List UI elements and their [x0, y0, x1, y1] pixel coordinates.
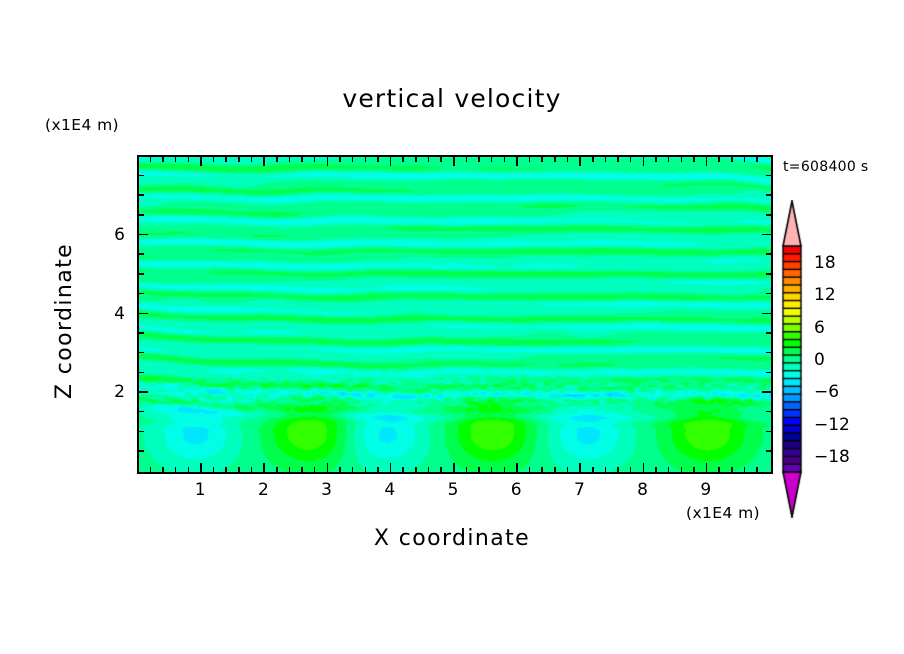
axis-tick — [617, 157, 619, 162]
axis-tick — [200, 463, 202, 472]
axis-tick — [762, 234, 771, 236]
axis-tick — [766, 431, 771, 433]
axis-tick — [175, 157, 177, 162]
axis-tick — [289, 467, 291, 472]
contour-field — [139, 157, 771, 472]
axis-tick — [263, 157, 265, 166]
axis-tick — [213, 467, 215, 472]
axis-tick — [453, 463, 455, 472]
axis-tick — [314, 157, 316, 162]
axis-tick — [263, 463, 265, 472]
axis-tick — [238, 157, 240, 162]
x-tick-label: 6 — [496, 480, 536, 500]
axis-tick — [390, 157, 392, 166]
axis-tick — [668, 157, 670, 162]
axis-tick — [440, 467, 442, 472]
axis-tick — [453, 157, 455, 166]
axis-tick — [579, 463, 581, 472]
colorbar-gradient — [781, 200, 803, 518]
x-tick-label: 4 — [370, 480, 410, 500]
axis-tick — [592, 467, 594, 472]
timestamp-annotation: t=608400 s — [783, 160, 868, 174]
y-axis-unit-label: (x1E4 m) — [45, 118, 119, 134]
x-tick-label: 5 — [433, 480, 473, 500]
colorbar-tick-label: 0 — [814, 350, 825, 370]
axis-tick — [402, 467, 404, 472]
axis-tick — [415, 467, 417, 472]
axis-tick — [440, 157, 442, 162]
axis-tick — [541, 467, 543, 472]
figure-canvas: vertical velocity (x1E4 m) (x1E4 m) X co… — [0, 0, 904, 654]
axis-tick — [162, 467, 164, 472]
axis-tick — [200, 157, 202, 166]
axis-tick — [139, 332, 144, 334]
axis-tick — [301, 157, 303, 162]
axis-tick — [762, 313, 771, 315]
axis-tick — [643, 463, 645, 472]
axis-tick — [744, 467, 746, 472]
x-tick-label: 8 — [623, 480, 663, 500]
axis-tick — [605, 467, 607, 472]
axis-tick — [516, 463, 518, 472]
axis-tick — [766, 450, 771, 452]
axis-tick — [225, 467, 227, 472]
x-tick-label: 1 — [180, 480, 220, 500]
axis-tick — [352, 467, 354, 472]
axis-tick — [693, 157, 695, 162]
axis-tick — [766, 293, 771, 295]
axis-tick — [139, 175, 144, 177]
axis-tick — [276, 467, 278, 472]
axis-tick — [766, 253, 771, 255]
axis-tick — [541, 157, 543, 162]
axis-tick — [352, 157, 354, 162]
axis-tick — [630, 157, 632, 162]
axis-tick — [139, 411, 144, 413]
axis-tick — [681, 467, 683, 472]
axis-tick — [766, 273, 771, 275]
axis-tick — [744, 157, 746, 162]
axis-tick — [567, 467, 569, 472]
x-axis-title: X coordinate — [0, 528, 904, 550]
axis-tick — [466, 157, 468, 162]
axis-tick — [301, 467, 303, 472]
axis-tick — [139, 214, 144, 216]
axis-tick — [617, 467, 619, 472]
y-tick-label: 4 — [95, 304, 125, 324]
axis-tick — [592, 157, 594, 162]
axis-tick — [162, 157, 164, 162]
axis-tick — [766, 352, 771, 354]
axis-tick — [365, 467, 367, 472]
colorbar-tick-label: −6 — [814, 382, 839, 402]
axis-tick — [605, 157, 607, 162]
axis-tick — [150, 157, 152, 162]
axis-tick — [681, 157, 683, 162]
axis-tick — [766, 194, 771, 196]
axis-tick — [139, 293, 144, 295]
x-tick-label: 7 — [559, 480, 599, 500]
axis-tick — [504, 467, 506, 472]
axis-tick — [756, 157, 758, 162]
colorbar-tick-label: −18 — [814, 447, 850, 467]
plot-title: vertical velocity — [0, 86, 904, 111]
axis-tick — [731, 157, 733, 162]
axis-tick — [554, 157, 556, 162]
axis-tick — [516, 157, 518, 166]
axis-tick — [718, 157, 720, 162]
axis-tick — [643, 157, 645, 166]
axis-tick — [377, 467, 379, 472]
axis-tick — [251, 157, 253, 162]
axis-tick — [491, 157, 493, 162]
axis-tick — [139, 313, 148, 315]
axis-tick — [756, 467, 758, 472]
colorbar-tick-label: −12 — [814, 415, 850, 435]
axis-tick — [139, 431, 144, 433]
y-tick-label: 6 — [95, 225, 125, 245]
axis-tick — [238, 467, 240, 472]
axis-tick — [327, 157, 329, 166]
x-axis-unit-label: (x1E4 m) — [686, 506, 760, 522]
axis-tick — [314, 467, 316, 472]
axis-tick — [706, 157, 708, 166]
axis-tick — [139, 372, 144, 374]
axis-tick — [766, 372, 771, 374]
axis-tick — [139, 194, 144, 196]
axis-tick — [402, 157, 404, 162]
axis-tick — [655, 157, 657, 162]
axis-tick — [139, 352, 144, 354]
axis-tick — [139, 391, 148, 393]
axis-tick — [766, 214, 771, 216]
axis-tick — [188, 467, 190, 472]
axis-tick — [630, 467, 632, 472]
colorbar — [781, 200, 803, 518]
axis-tick — [365, 157, 367, 162]
axis-tick — [693, 467, 695, 472]
axis-tick — [504, 157, 506, 162]
axis-tick — [567, 157, 569, 162]
y-axis-title: Z coordinate — [54, 221, 76, 421]
axis-tick — [139, 273, 144, 275]
axis-tick — [762, 391, 771, 393]
plot-area — [137, 155, 773, 474]
x-tick-label: 3 — [307, 480, 347, 500]
axis-tick — [655, 467, 657, 472]
axis-tick — [188, 157, 190, 162]
axis-tick — [276, 157, 278, 162]
axis-tick — [225, 157, 227, 162]
axis-tick — [428, 157, 430, 162]
axis-tick — [579, 157, 581, 166]
x-tick-label: 9 — [686, 480, 726, 500]
axis-tick — [327, 463, 329, 472]
axis-tick — [289, 157, 291, 162]
axis-tick — [175, 467, 177, 472]
axis-tick — [415, 157, 417, 162]
axis-tick — [213, 157, 215, 162]
axis-tick — [529, 157, 531, 162]
axis-tick — [478, 467, 480, 472]
axis-tick — [466, 467, 468, 472]
axis-tick — [377, 157, 379, 162]
axis-tick — [478, 157, 480, 162]
colorbar-tick-label: 18 — [814, 253, 836, 273]
axis-tick — [339, 467, 341, 472]
x-tick-label: 2 — [243, 480, 283, 500]
axis-tick — [668, 467, 670, 472]
axis-tick — [706, 463, 708, 472]
axis-tick — [766, 411, 771, 413]
colorbar-tick-label: 6 — [814, 318, 825, 338]
axis-tick — [139, 450, 144, 452]
axis-tick — [339, 157, 341, 162]
axis-tick — [139, 253, 144, 255]
axis-tick — [150, 467, 152, 472]
axis-tick — [718, 467, 720, 472]
axis-tick — [766, 175, 771, 177]
axis-tick — [554, 467, 556, 472]
axis-tick — [529, 467, 531, 472]
colorbar-tick-label: 12 — [814, 285, 836, 305]
axis-tick — [251, 467, 253, 472]
axis-tick — [390, 463, 392, 472]
axis-tick — [731, 467, 733, 472]
axis-tick — [491, 467, 493, 472]
axis-tick — [766, 332, 771, 334]
axis-tick — [428, 467, 430, 472]
y-tick-label: 2 — [95, 382, 125, 402]
axis-tick — [139, 234, 148, 236]
